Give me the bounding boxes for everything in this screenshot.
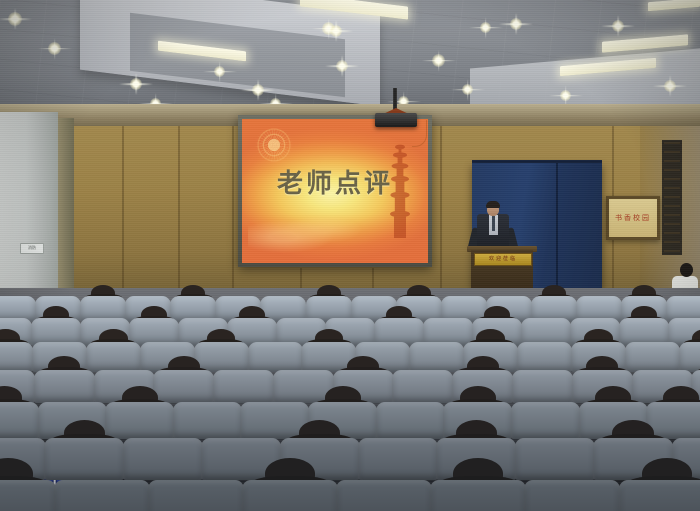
ceiling-downlight bbox=[330, 25, 342, 37]
auditorium-seat bbox=[213, 370, 274, 403]
wall-plaque-text: 消防 bbox=[21, 244, 43, 252]
speaker-tie bbox=[492, 216, 495, 231]
auditorium-seat bbox=[336, 480, 432, 511]
framed-calligraphy: 书香校园 bbox=[606, 196, 660, 240]
auditorium-seat bbox=[44, 438, 124, 480]
projector-icon bbox=[375, 113, 417, 127]
ceiling-downlight bbox=[8, 12, 22, 26]
auditorium-seat bbox=[242, 480, 338, 511]
lecture-hall-photo: 消防 书香校园 bbox=[0, 0, 700, 511]
vertical-scroll-frame bbox=[662, 140, 682, 255]
ceiling-downlight bbox=[252, 84, 264, 96]
ceiling-downlight bbox=[510, 18, 522, 30]
auditorium-seat bbox=[392, 370, 453, 403]
auditorium-seat bbox=[511, 402, 580, 439]
ceiling-downlight bbox=[560, 90, 571, 101]
auditorium-seat bbox=[646, 402, 700, 439]
slide-title: 老师点评 bbox=[242, 163, 428, 200]
audience-seating bbox=[0, 288, 700, 511]
auditorium-seat bbox=[512, 370, 573, 403]
auditorium-seat bbox=[34, 370, 95, 403]
podium-nameplate: 欢迎莅临 bbox=[474, 253, 532, 266]
auditorium-seat bbox=[0, 480, 56, 511]
auditorium-seat bbox=[517, 342, 572, 372]
ceiling-downlight bbox=[48, 42, 61, 55]
ceiling bbox=[0, 0, 700, 120]
ceiling-downlight bbox=[612, 20, 624, 32]
auditorium-seat bbox=[54, 480, 150, 511]
auditorium-seat bbox=[619, 480, 700, 511]
auditorium-seat bbox=[86, 342, 141, 372]
auditorium-seat bbox=[123, 438, 203, 480]
backdrop-fold bbox=[556, 163, 558, 288]
auditorium-seat bbox=[625, 342, 680, 372]
sunburst-rays-icon bbox=[252, 129, 296, 161]
auditorium-seat bbox=[148, 480, 244, 511]
ceiling-downlight bbox=[462, 84, 473, 95]
auditorium-seat bbox=[515, 438, 595, 480]
auditorium-seat bbox=[105, 402, 174, 439]
ceiling-downlight bbox=[336, 60, 348, 72]
ceiling-downlight bbox=[480, 22, 491, 33]
wall-seam bbox=[232, 126, 234, 306]
wall-seam bbox=[122, 126, 124, 306]
calligraphy-inner: 书香校园 bbox=[609, 199, 657, 237]
auditorium-seat bbox=[376, 402, 445, 439]
ceiling-downlight bbox=[432, 54, 445, 67]
auditorium-seat bbox=[524, 480, 620, 511]
wall-plaque: 消防 bbox=[20, 243, 44, 254]
standing-person-head bbox=[680, 263, 693, 277]
ceiling-downlight bbox=[214, 66, 225, 77]
wall-left-column bbox=[0, 112, 58, 308]
auditorium-seat bbox=[409, 342, 464, 372]
speaker-hair bbox=[486, 201, 500, 208]
auditorium-seat bbox=[173, 402, 242, 439]
auditorium-seat bbox=[430, 480, 526, 511]
auditorium-seat bbox=[248, 342, 303, 372]
auditorium-seat bbox=[0, 342, 33, 372]
ceiling-downlight bbox=[664, 80, 676, 92]
auditorium-seat bbox=[153, 370, 214, 403]
wall-left-column-edge bbox=[58, 118, 74, 308]
auditorium-seat bbox=[358, 438, 438, 480]
projection-screen-frame: 老师点评 bbox=[238, 115, 432, 267]
projection-screen: 老师点评 bbox=[242, 119, 428, 263]
ceiling-downlight bbox=[130, 78, 142, 90]
wall-seam bbox=[178, 126, 180, 306]
wall-seam bbox=[440, 126, 442, 306]
auditorium-seat bbox=[679, 342, 700, 372]
calligraphy-text: 书香校园 bbox=[615, 213, 651, 223]
vertical-scroll-inner bbox=[664, 142, 680, 253]
podium-nameplate-text: 欢迎莅临 bbox=[475, 254, 531, 264]
swirl-decoration-icon bbox=[248, 209, 368, 255]
auditorium-seat bbox=[0, 402, 39, 439]
